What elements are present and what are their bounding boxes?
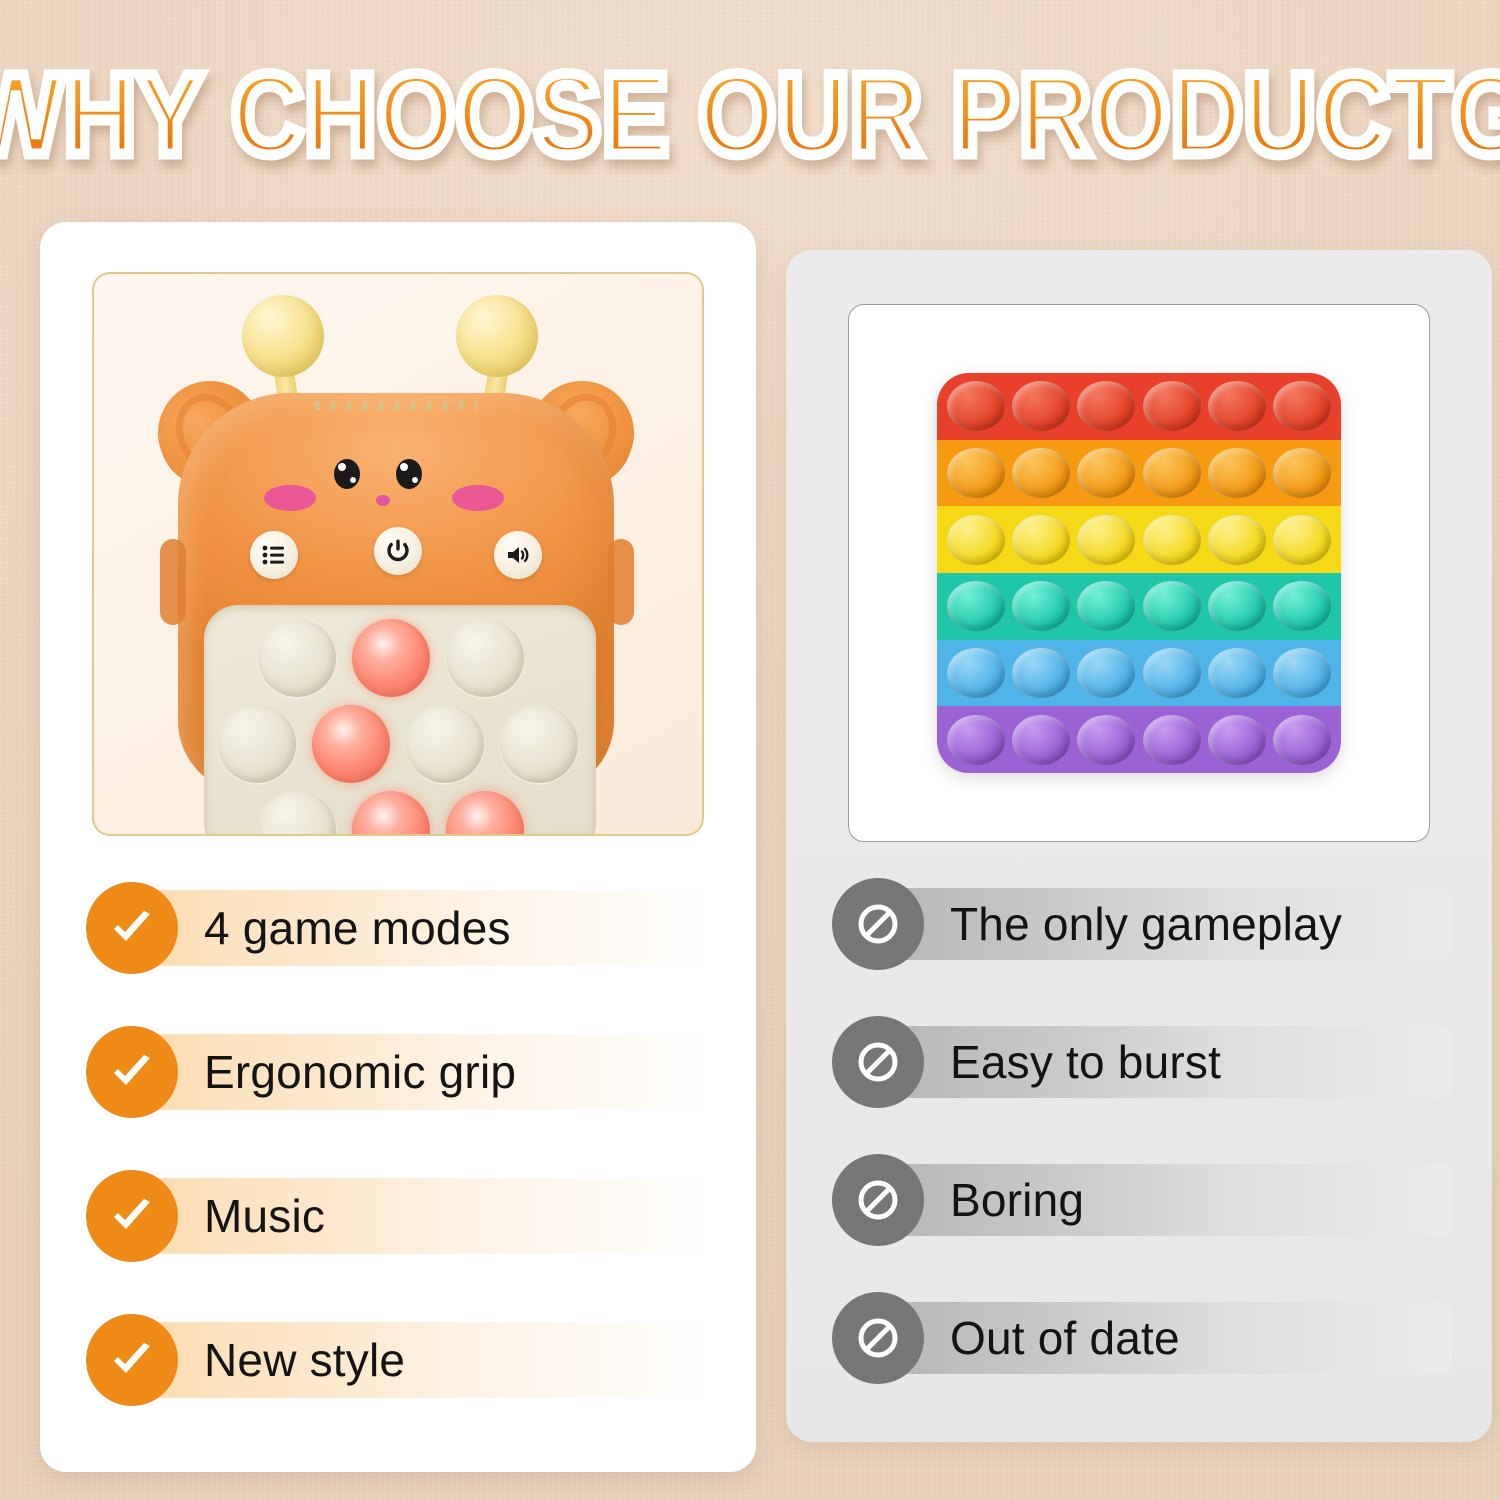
popit-bubble[interactable]	[947, 581, 1005, 631]
feature-label: 4 game modes	[204, 901, 511, 955]
popit-bubble[interactable]	[1273, 715, 1331, 765]
bubble[interactable]	[258, 791, 336, 836]
popit-bubble[interactable]	[1143, 581, 1201, 631]
popit-bubble[interactable]	[1208, 648, 1266, 698]
page-title: WHY CHOOSE OUR PRODUCTG	[0, 49, 1500, 181]
our-product-panel: 4 game modes Ergonomic grip Music	[40, 222, 756, 1472]
power-icon	[385, 538, 411, 564]
drawback-label: Easy to burst	[950, 1035, 1221, 1089]
bubble[interactable]	[446, 619, 524, 697]
popit-bubble[interactable]	[1143, 715, 1201, 765]
bubble-row-3	[258, 791, 524, 836]
side-grip-left	[160, 539, 186, 625]
popit-bubble[interactable]	[1077, 581, 1135, 631]
power-button[interactable]	[374, 527, 422, 575]
popit-bubble[interactable]	[1273, 381, 1331, 431]
check-badge	[86, 1170, 178, 1262]
popit-row-orange	[937, 440, 1341, 507]
drawback-label: Boring	[950, 1173, 1084, 1227]
popit-bubble[interactable]	[1273, 648, 1331, 698]
popit-row-yellow	[937, 506, 1341, 573]
popit-bubble[interactable]	[947, 515, 1005, 565]
list-icon	[261, 545, 287, 565]
antenna-ball-right	[456, 295, 538, 377]
nose	[376, 495, 390, 506]
drawback-label: The only gameplay	[950, 897, 1342, 951]
feature-label: Ergonomic grip	[204, 1045, 516, 1099]
prohibited-icon	[852, 1312, 904, 1364]
popit-bubble[interactable]	[1077, 448, 1135, 498]
popit-bubble[interactable]	[1077, 381, 1135, 431]
popit-bubble[interactable]	[1273, 448, 1331, 498]
prohibited-badge	[832, 1016, 924, 1108]
bubble-lit[interactable]	[312, 705, 390, 783]
popit-bubble[interactable]	[947, 648, 1005, 698]
popit-bubble[interactable]	[1077, 715, 1135, 765]
popit-bubble[interactable]	[1208, 381, 1266, 431]
feature-label: New style	[204, 1333, 405, 1387]
popit-bubble[interactable]	[1012, 581, 1070, 631]
popit-bubble[interactable]	[1273, 515, 1331, 565]
feature-label: Music	[204, 1189, 325, 1243]
popit-bubble[interactable]	[1208, 715, 1266, 765]
bubble-grid-screen	[204, 605, 596, 836]
volume-button[interactable]	[494, 531, 542, 579]
popit-bubble[interactable]	[1012, 448, 1070, 498]
popit-row-teal	[937, 573, 1341, 640]
check-badge	[86, 1314, 178, 1406]
popit-row-purple	[937, 706, 1341, 773]
feature-row: 4 game modes	[86, 882, 714, 974]
popit-bubble[interactable]	[1077, 515, 1135, 565]
bubble-lit[interactable]	[352, 791, 430, 836]
popit-bubble[interactable]	[1143, 381, 1201, 431]
feature-row: Music	[86, 1170, 714, 1262]
antenna-ball-left	[242, 295, 324, 377]
popit-bubble[interactable]	[1012, 381, 1070, 431]
prohibited-icon	[852, 1036, 904, 1088]
speaker-holes	[314, 401, 478, 410]
bubble-lit[interactable]	[352, 619, 430, 697]
drawback-row: Easy to burst	[832, 1018, 1452, 1106]
cheek-left	[264, 485, 316, 511]
popit-bubble[interactable]	[947, 715, 1005, 765]
popit-bubble[interactable]	[1012, 715, 1070, 765]
feature-row: Ergonomic grip	[86, 1026, 714, 1118]
popit-bubble[interactable]	[1143, 648, 1201, 698]
side-grip-right	[608, 539, 634, 625]
prohibited-badge	[832, 1154, 924, 1246]
popit-bubble[interactable]	[1273, 581, 1331, 631]
speaker-icon	[505, 544, 531, 566]
drawback-row: The only gameplay	[832, 880, 1452, 968]
prohibited-badge	[832, 1292, 924, 1384]
quick-push-game-console-image	[138, 289, 658, 819]
popit-row-red	[937, 373, 1341, 440]
bubble-row-1	[258, 619, 524, 697]
bubble-row-2	[218, 705, 578, 783]
check-icon	[107, 1338, 157, 1382]
drawback-row: Out of date	[832, 1294, 1452, 1382]
popit-bubble[interactable]	[1077, 648, 1135, 698]
popit-bubble[interactable]	[1208, 581, 1266, 631]
feature-row: New style	[86, 1314, 714, 1406]
prohibited-badge	[832, 878, 924, 970]
popit-bubble[interactable]	[1143, 448, 1201, 498]
check-icon	[107, 1194, 157, 1238]
page-title-container: WHY CHOOSE OUR PRODUCTG	[0, 60, 1500, 170]
eye-left	[334, 459, 360, 489]
popit-bubble[interactable]	[1143, 515, 1201, 565]
rainbow-popit-image	[937, 373, 1341, 773]
popit-bubble[interactable]	[1208, 448, 1266, 498]
our-product-feature-list: 4 game modes Ergonomic grip Music	[86, 882, 714, 1458]
menu-button[interactable]	[250, 531, 298, 579]
cheek-right	[452, 485, 504, 511]
bubble[interactable]	[258, 619, 336, 697]
check-icon	[107, 1050, 157, 1094]
our-product-image-box	[92, 272, 704, 836]
check-icon	[107, 906, 157, 950]
popit-bubble[interactable]	[1012, 648, 1070, 698]
popit-bubble[interactable]	[1012, 515, 1070, 565]
prohibited-icon	[852, 1174, 904, 1226]
bubble[interactable]	[406, 705, 484, 783]
popit-row-blue	[937, 640, 1341, 707]
other-product-image-box	[848, 304, 1430, 842]
bubble[interactable]	[218, 705, 296, 783]
popit-bubble[interactable]	[947, 381, 1005, 431]
popit-bubble[interactable]	[1208, 515, 1266, 565]
bubble-lit[interactable]	[446, 791, 524, 836]
check-badge	[86, 882, 178, 974]
eye-right	[396, 459, 422, 489]
bubble[interactable]	[500, 705, 578, 783]
other-product-panel: The only gameplay Easy to burst Boring	[786, 250, 1492, 1442]
prohibited-icon	[852, 898, 904, 950]
other-product-drawback-list: The only gameplay Easy to burst Boring	[832, 880, 1452, 1432]
drawback-row: Boring	[832, 1156, 1452, 1244]
popit-bubble[interactable]	[947, 448, 1005, 498]
check-badge	[86, 1026, 178, 1118]
drawback-label: Out of date	[950, 1311, 1180, 1365]
